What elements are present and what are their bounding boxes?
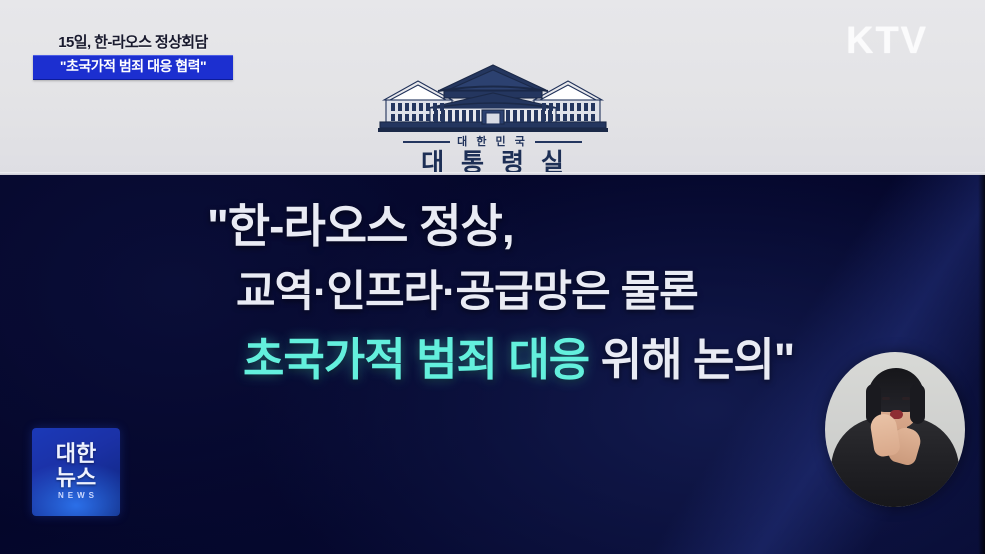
top-graphic-panel: 15일, 한-라오스 정상회담 "초국가적 범죄 대응 협력" KTV — [0, 0, 985, 175]
daehan-news-station-logo: 대한 뉴스 NEWS — [32, 428, 120, 516]
headline-block: 15일, 한-라오스 정상회담 "초국가적 범죄 대응 협력" — [33, 33, 233, 80]
presidential-office-emblem: 대 한 민 국 대 통 령 실 — [378, 62, 608, 172]
interpreter-hair-right — [910, 384, 925, 424]
ktv-channel-logo: KTV — [846, 21, 928, 61]
interpreter-eye-right — [902, 397, 910, 400]
quote-line-2: 교역·인프라·공급망은 물론 — [236, 271, 985, 314]
broadcast-screen: 15일, 한-라오스 정상회담 "초국가적 범죄 대응 협력" KTV — [0, 0, 985, 554]
quote-line-3-rest: 위해 논의" — [589, 334, 794, 385]
lower-quote-panel: "한-라오스 정상, 교역·인프라·공급망은 물론 초국가적 범죄 대응 위해 … — [0, 175, 985, 554]
divider-rule-left — [403, 141, 450, 143]
headline-kicker: 15일, 한-라오스 정상회담 — [33, 33, 233, 53]
station-logo-line-2: 뉴스 — [56, 466, 96, 489]
emblem-caption-main: 대 통 령 실 — [378, 150, 608, 177]
quote-line-3: 초국가적 범죄 대응 위해 논의" — [243, 337, 985, 382]
emblem-divider: 대 한 민 국 — [378, 134, 608, 150]
headline-highlight-bar: "초국가적 범죄 대응 협력" — [33, 55, 233, 80]
emblem-caption-small: 대 한 민 국 — [457, 136, 528, 148]
station-logo-line-1: 대한 — [56, 443, 96, 465]
headline-highlight-text: "초국가적 범죄 대응 협력" — [60, 58, 206, 75]
divider-rule-right — [535, 141, 582, 143]
quote-line-1: "한-라오스 정상, — [207, 203, 985, 249]
quote-line-3-highlight: 초국가적 범죄 대응 — [243, 334, 589, 385]
presidential-office-building-icon — [378, 62, 608, 134]
quote-block: "한-라오스 정상, 교역·인프라·공급망은 물론 초국가적 범죄 대응 위해 … — [0, 203, 985, 382]
station-logo-english: NEWS — [54, 491, 98, 501]
interpreter-eye-left — [882, 397, 890, 400]
